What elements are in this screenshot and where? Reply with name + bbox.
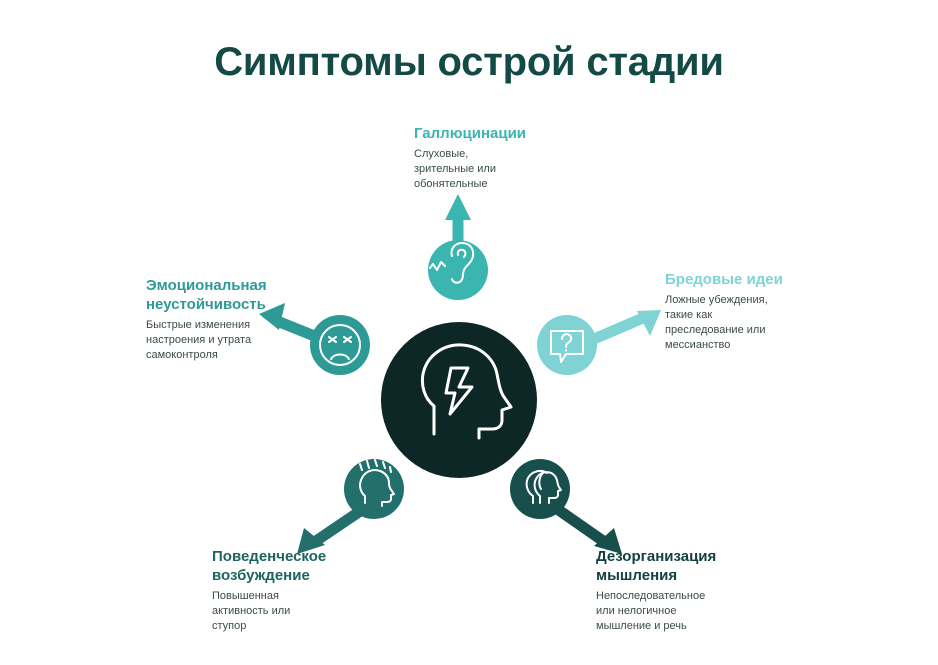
description-disorganized-thinking: Непоследовательное или нелогичное мышлен… xyxy=(596,589,796,634)
heading-line: Эмоциональная xyxy=(146,276,306,295)
node-hallucinations[interactable] xyxy=(428,240,488,300)
desc-line: Слуховые, xyxy=(414,147,614,162)
desc-line: самоконтроля xyxy=(146,348,306,363)
center-node xyxy=(381,322,537,478)
desc-line: такие как xyxy=(665,308,845,323)
heading-delusions: Бредовые идеи xyxy=(665,270,845,289)
desc-line: активность или xyxy=(212,604,397,619)
desc-line: или нелогичное xyxy=(596,604,796,619)
desc-line: ступор xyxy=(212,619,397,634)
description-hallucinations: Слуховые, зрительные или обонятельные xyxy=(414,147,614,192)
desc-line: обонятельные xyxy=(414,177,614,192)
desc-line: мышление и речь xyxy=(596,619,796,634)
label-emotional-instability: Эмоциональная неустойчивость Быстрые изм… xyxy=(146,276,306,363)
label-delusions: Бредовые идеи Ложные убеждения, такие ка… xyxy=(665,270,845,353)
label-behavioral-agitation: Поведенческое возбуждение Повышенная акт… xyxy=(212,547,397,634)
heading-behavioral-agitation: Поведенческое возбуждение xyxy=(212,547,397,585)
infographic-slide: Симптомы острой стадии xyxy=(0,0,938,665)
desc-line: мессианство xyxy=(665,338,845,353)
heading-line: Поведенческое xyxy=(212,547,397,566)
label-hallucinations: Галлюцинации Слуховые, зрительные или об… xyxy=(414,124,614,192)
description-emotional-instability: Быстрые изменения настроения и утрата са… xyxy=(146,318,306,363)
heading-disorganized-thinking: Дезорганизация мышления xyxy=(596,547,796,585)
description-delusions: Ложные убеждения, такие как преследовани… xyxy=(665,293,845,353)
label-disorganized-thinking: Дезорганизация мышления Непоследовательн… xyxy=(596,547,796,634)
node-disorganized-thinking[interactable] xyxy=(510,459,570,519)
node-delusions[interactable] xyxy=(537,315,597,375)
heading-line: неустойчивость xyxy=(146,295,306,314)
desc-line: Быстрые изменения xyxy=(146,318,306,333)
desc-line: Повышенная xyxy=(212,589,397,604)
desc-line: Непоследовательное xyxy=(596,589,796,604)
node-behavioral-agitation[interactable] xyxy=(344,459,404,519)
desc-line: преследование или xyxy=(665,323,845,338)
desc-line: зрительные или xyxy=(414,162,614,177)
description-behavioral-agitation: Повышенная активность или ступор xyxy=(212,589,397,634)
node-emotional-instability[interactable] xyxy=(310,315,370,375)
desc-line: настроения и утрата xyxy=(146,333,306,348)
heading-line: мышления xyxy=(596,566,796,585)
heading-line: Дезорганизация xyxy=(596,547,796,566)
desc-line: Ложные убеждения, xyxy=(665,293,845,308)
heading-line: возбуждение xyxy=(212,566,397,585)
heading-hallucinations: Галлюцинации xyxy=(414,124,614,143)
heading-emotional-instability: Эмоциональная неустойчивость xyxy=(146,276,306,314)
